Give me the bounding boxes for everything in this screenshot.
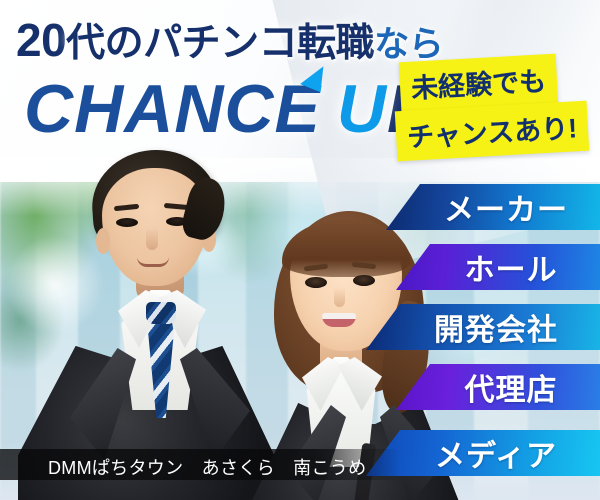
man-mouth	[137, 257, 169, 267]
man-eye-left	[116, 218, 138, 227]
man-necktie-knot	[146, 302, 176, 324]
pachinko-job-ad-banner: 20代のパチンコ転職なら CHANCEUP 未経験でも チャンスあり! メーカー…	[0, 0, 600, 500]
headline-main: 代のパチンコ転職	[66, 22, 374, 65]
category-button-hall[interactable]: ホール	[396, 244, 600, 290]
chance-up-logo: CHANCEUP	[24, 70, 433, 148]
woman-eye-right	[353, 275, 375, 286]
headline-text: 20代のパチンコ転職なら	[16, 12, 443, 68]
category-button-development-company[interactable]: 開発会社	[366, 304, 600, 350]
headline-age-number: 20	[16, 14, 66, 66]
man-ear-left	[96, 228, 110, 254]
man-nose	[146, 228, 158, 250]
caption-credit-text: DMMぱちタウン あさくら 南こうめ	[48, 454, 366, 480]
category-button-agency[interactable]: 代理店	[396, 364, 600, 410]
headline-suffix: なら	[374, 25, 443, 64]
badge-chance-available: チャンスあり!	[395, 101, 590, 162]
woman-nose	[334, 287, 345, 307]
male-model-photo	[18, 150, 278, 500]
logo-word-chance: CHANCE	[24, 71, 321, 147]
category-button-maker[interactable]: メーカー	[386, 184, 600, 230]
woman-eye-left	[305, 277, 327, 288]
woman-smiling-mouth	[322, 313, 356, 327]
logo-letter-u: U	[337, 71, 387, 147]
category-button-media[interactable]: メディア	[366, 430, 600, 476]
